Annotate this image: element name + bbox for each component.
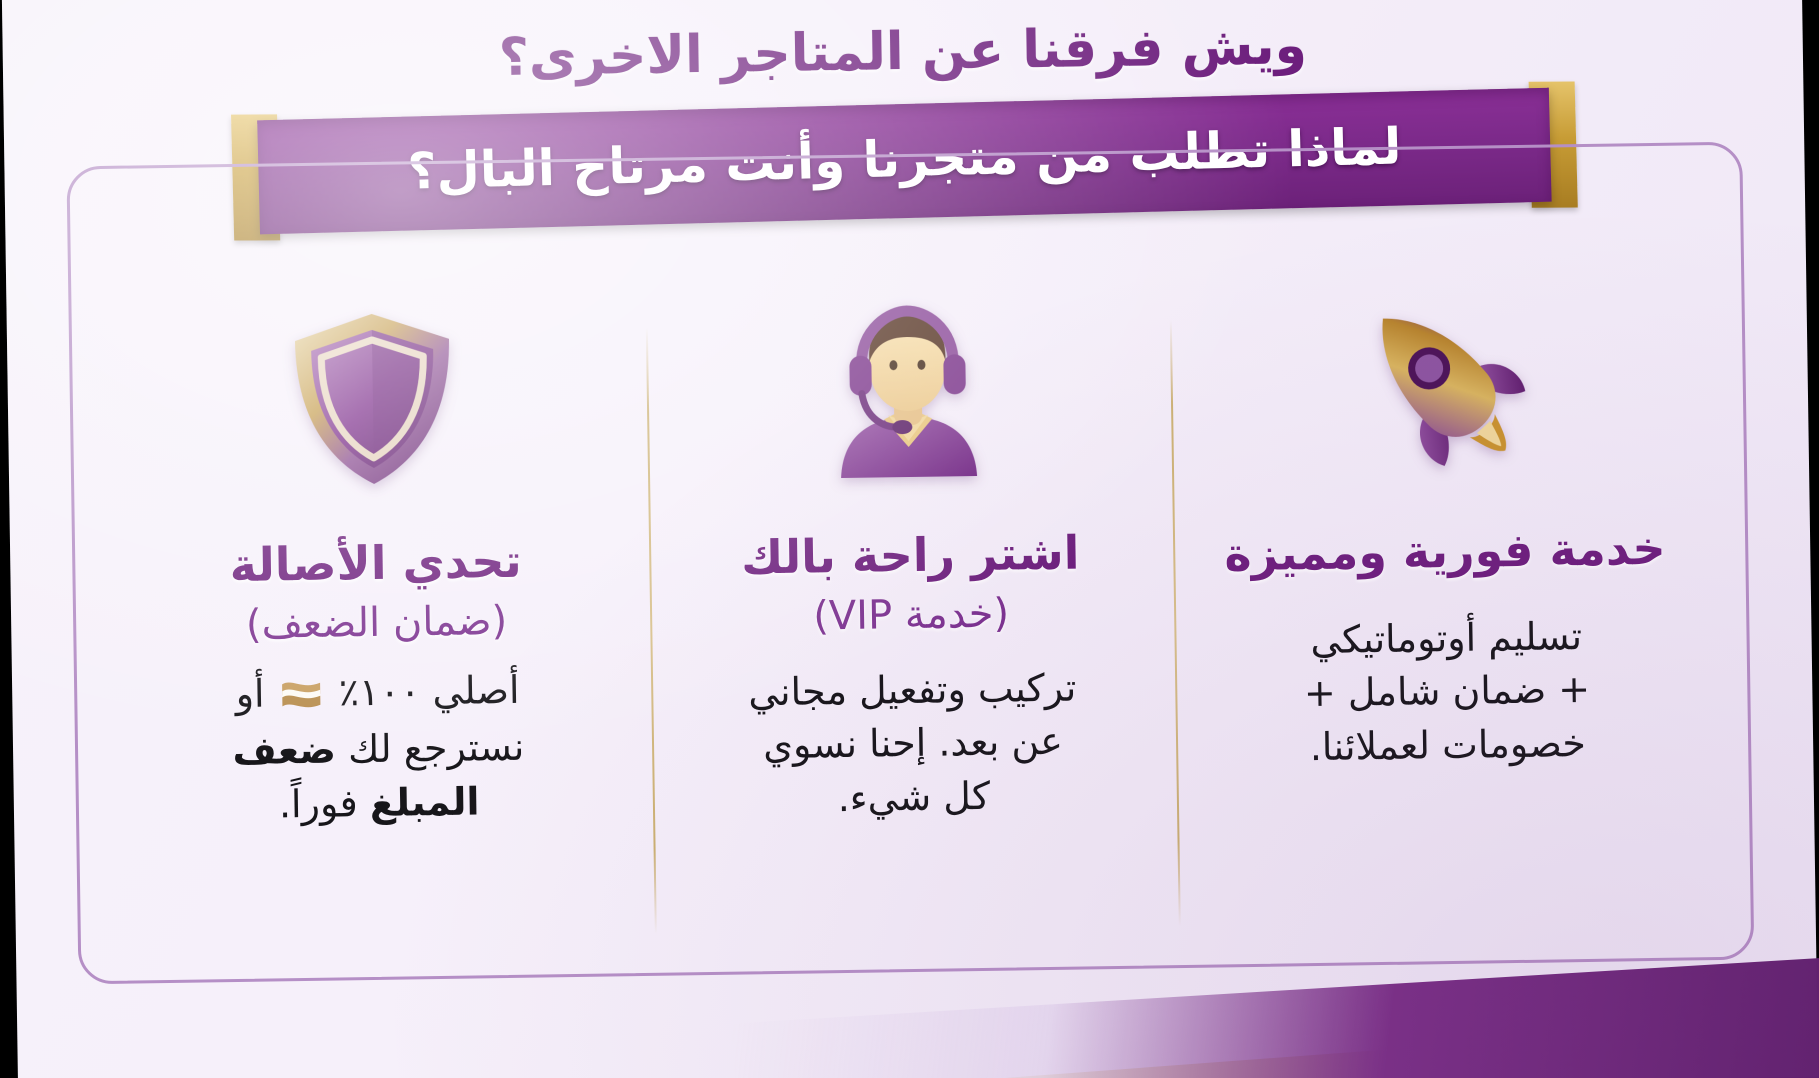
feature-subtitle: (ضمان الضعف) xyxy=(246,598,508,648)
feature-column-instant-service: خدمة فورية ومميزة تسليم أوتوماتيكي + ضما… xyxy=(1174,294,1718,936)
feature-subtitle: (خدمة VIP) xyxy=(813,590,1009,639)
body-line-3: كل شيء. xyxy=(837,774,990,820)
body-line-1: تسليم أوتوماتيكي xyxy=(1310,614,1582,662)
purple-swoosh-decoration xyxy=(732,956,1819,1078)
feature-title: اشتر راحة بالك xyxy=(741,527,1080,584)
feature-body: أصلي ١٠٠٪ أو نسترجع لك ضعف المبلغ فوراً. xyxy=(231,663,525,833)
shield-icon xyxy=(277,303,470,496)
body-line-1-after: أو xyxy=(235,671,277,716)
screenshot-stage: ويش فرقنا عن المتاجر الاخرى؟ لماذا تطلب … xyxy=(0,0,1819,1078)
feature-title: تحدي الأصالة xyxy=(229,536,522,592)
body-line-2: عن بعد. إحنا نسوي xyxy=(763,719,1063,767)
body-line-1: تركيب وتفعيل مجاني xyxy=(748,665,1077,714)
body-line-3-after: فوراً. xyxy=(279,781,371,826)
body-line-2-bold: ضعف xyxy=(232,728,336,774)
body-line-1-before: أصلي ١٠٠٪ xyxy=(326,667,520,714)
features-row: تحدي الأصالة (ضمان الضعف) أصلي ١٠٠٪ أو ن… xyxy=(105,294,1718,952)
headset-agent-icon xyxy=(811,295,1004,488)
feature-title: خدمة فورية ومميزة xyxy=(1224,523,1666,581)
body-line-2: + ضمان شامل + xyxy=(1304,667,1591,715)
body-line-3-bold: المبلغ xyxy=(369,780,479,826)
body-line-2-before: نسترجع لك xyxy=(336,725,525,772)
promo-card: ويش فرقنا عن المتاجر الاخرى؟ لماذا تطلب … xyxy=(2,0,1818,1078)
waving-flag-emoji xyxy=(280,670,323,725)
feature-column-vip-service: اشتر راحة بالك (خدمة VIP) تركيب وتفعيل م… xyxy=(639,302,1183,944)
feature-body: تسليم أوتوماتيكي + ضمان شامل + خصومات لع… xyxy=(1303,609,1592,775)
feature-body: تركيب وتفعيل مجاني عن بعد. إحنا نسوي كل … xyxy=(748,661,1078,828)
body-line-3: خصومات لعملائنا. xyxy=(1309,721,1586,769)
feature-column-authenticity: تحدي الأصالة (ضمان الضعف) أصلي ١٠٠٪ أو ن… xyxy=(105,310,649,952)
rocket-icon xyxy=(1346,287,1539,480)
